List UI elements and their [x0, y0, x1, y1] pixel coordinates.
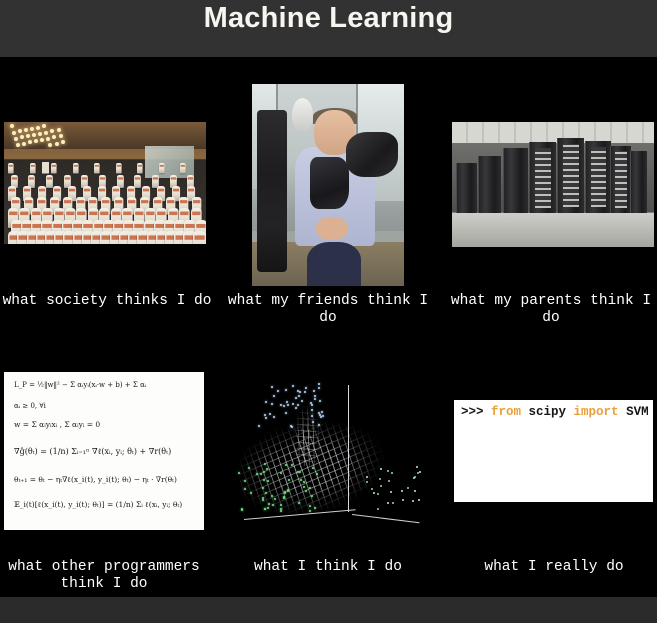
caption-really-do: what I really do — [452, 559, 656, 576]
equation-list: L_P = ½‖w‖² − Σ αᵢyᵢ(xᵢ·w + b) + Σ αᵢ αᵢ… — [4, 372, 204, 530]
header-bar: Machine Learning — [0, 0, 657, 57]
caption-parents: what my parents think I do — [444, 293, 657, 327]
imported-symbol: SVM — [619, 405, 649, 419]
caption-friends: what my friends think I do — [222, 293, 434, 327]
equation-line: L_P = ½‖w‖² − Σ αᵢyᵢ(xᵢ·w + b) + Σ αᵢ — [14, 381, 146, 389]
equation-line: ∇ĝ(θₜ) = (1/n) Σᵢ₌₁ⁿ ∇ℓ(xᵢ, yᵢ; θₜ) + ∇r… — [14, 447, 171, 456]
footer-bar — [0, 597, 657, 623]
python-console-panel: >>> from scipy import SVM — [454, 400, 653, 502]
svm-hyperplane-plot — [228, 370, 428, 535]
console-prompt: >>> — [461, 405, 491, 419]
module-name: scipy — [521, 405, 574, 419]
caption-i-think: what I think I do — [228, 559, 428, 576]
equation-line: 𝔼_i(t)[ℓ(x_i(t), y_i(t); θₜ)] = (1/n) Σᵢ… — [14, 500, 182, 509]
man-with-robot-arm-photo — [252, 84, 404, 286]
keyword-import: import — [574, 405, 619, 419]
server-racks-photo — [452, 122, 654, 247]
caption-other-programmers: what other programmers think I do — [0, 559, 208, 593]
code-line: >>> from scipy import SVM — [454, 400, 653, 419]
robot-hall-photo — [4, 122, 206, 244]
equation-line: θₜ₊₁ = θₜ − ηₜ∇ℓ(x_i(t), y_i(t); θₜ) − η… — [14, 475, 177, 484]
page-title: Machine Learning — [0, 2, 657, 35]
keyword-from: from — [491, 405, 521, 419]
caption-society: what society thinks I do — [0, 293, 214, 310]
equation-line: w = Σ αᵢyᵢxᵢ , Σ αᵢyᵢ = 0 — [14, 420, 100, 429]
equation-line: αᵢ ≥ 0, ∀i — [14, 402, 46, 410]
math-equations-panel: L_P = ½‖w‖² − Σ αᵢyᵢ(xᵢ·w + b) + Σ αᵢ αᵢ… — [4, 372, 204, 530]
